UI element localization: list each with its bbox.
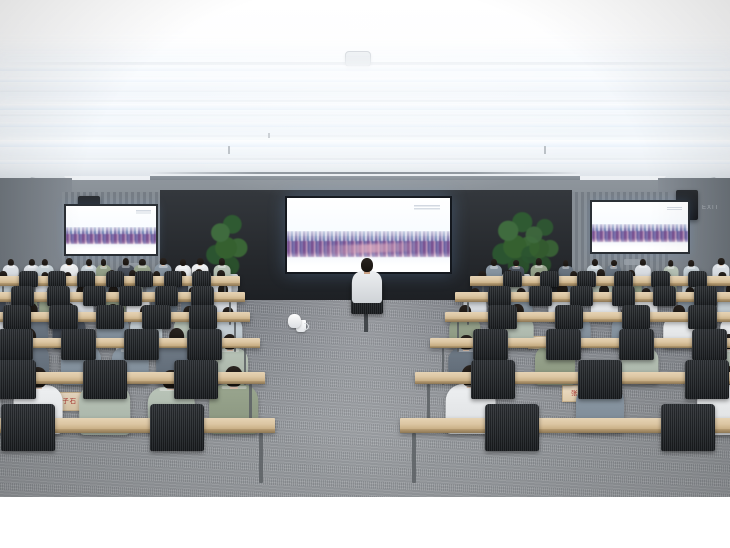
chair bbox=[622, 305, 651, 330]
chair bbox=[96, 305, 125, 330]
left-side-monitor[interactable] bbox=[64, 204, 158, 256]
person-collar bbox=[218, 265, 226, 268]
slide-logo-mark bbox=[667, 207, 682, 212]
tea-cup-with-lid bbox=[288, 314, 301, 328]
chair bbox=[577, 271, 595, 287]
ceiling-light-strip bbox=[0, 66, 730, 71]
wall-sign: EXIT bbox=[702, 205, 719, 211]
slide-content bbox=[592, 202, 688, 252]
person-collar bbox=[65, 265, 74, 268]
sprinkler-icon bbox=[268, 133, 270, 138]
chair bbox=[619, 329, 655, 360]
ceiling-light-strip bbox=[0, 160, 730, 164]
chair bbox=[653, 286, 676, 306]
chair bbox=[612, 286, 635, 306]
slide-haze bbox=[66, 242, 156, 254]
sprinkler-icon bbox=[544, 146, 546, 154]
chair bbox=[48, 271, 66, 287]
person-collar bbox=[85, 266, 93, 269]
chair bbox=[47, 286, 70, 306]
chair bbox=[49, 305, 78, 330]
slide-content bbox=[66, 206, 156, 254]
chair bbox=[77, 271, 95, 287]
person-collar bbox=[7, 265, 15, 268]
chair bbox=[83, 286, 106, 306]
chair bbox=[485, 404, 539, 451]
slide-logo-mark bbox=[414, 205, 440, 212]
table-edge bbox=[0, 381, 265, 384]
person-collar bbox=[535, 265, 543, 268]
chair bbox=[546, 329, 582, 360]
chair bbox=[692, 329, 728, 360]
chair bbox=[142, 305, 171, 330]
chair bbox=[135, 271, 153, 287]
chair bbox=[471, 360, 515, 398]
table-leg bbox=[259, 433, 263, 483]
chair bbox=[688, 271, 706, 287]
sprinkler-icon bbox=[228, 146, 230, 154]
person-collar bbox=[639, 265, 647, 268]
ceiling-light-strip bbox=[0, 122, 730, 127]
chair bbox=[688, 305, 717, 330]
chair bbox=[106, 271, 124, 287]
ceiling-light-strip bbox=[0, 104, 730, 110]
ceiling-light-strip bbox=[0, 78, 730, 82]
person-collar bbox=[513, 266, 521, 269]
chair bbox=[488, 286, 511, 306]
chair bbox=[488, 305, 517, 330]
chair bbox=[61, 329, 97, 360]
person-collar bbox=[196, 265, 205, 268]
chair bbox=[189, 305, 218, 330]
chair bbox=[164, 271, 182, 287]
smoke-detector-icon bbox=[345, 51, 371, 67]
person-collar bbox=[100, 266, 108, 269]
person-collar bbox=[179, 266, 187, 269]
person-collar bbox=[490, 266, 498, 269]
chair bbox=[651, 271, 669, 287]
chair bbox=[187, 329, 223, 360]
person-collar bbox=[667, 266, 674, 269]
chair bbox=[3, 305, 32, 330]
person-collar bbox=[562, 266, 570, 269]
chair bbox=[529, 286, 552, 306]
chair bbox=[614, 271, 632, 287]
chair bbox=[570, 286, 593, 306]
table-leg bbox=[412, 433, 416, 483]
chair bbox=[503, 271, 521, 287]
chair bbox=[124, 329, 160, 360]
slide-logo-mark bbox=[136, 210, 150, 214]
person-collar bbox=[591, 266, 599, 269]
chair bbox=[191, 286, 214, 306]
chair bbox=[685, 360, 729, 398]
chair bbox=[83, 360, 127, 398]
conference-table bbox=[415, 372, 730, 384]
person-collar bbox=[222, 386, 247, 389]
chair bbox=[694, 286, 717, 306]
chair bbox=[19, 271, 37, 287]
ceiling-light-strip bbox=[0, 90, 730, 92]
chair bbox=[119, 286, 142, 306]
person-collar bbox=[41, 265, 49, 268]
person-collar bbox=[159, 265, 168, 268]
person-head bbox=[361, 258, 373, 272]
chair bbox=[540, 271, 558, 287]
chair bbox=[192, 271, 210, 287]
chair-base bbox=[364, 312, 368, 332]
person-collar bbox=[27, 265, 35, 268]
chair bbox=[155, 286, 178, 306]
conference-room-photo: EXIT bbox=[0, 0, 730, 497]
person-collar bbox=[122, 265, 130, 268]
chair bbox=[0, 329, 33, 360]
person-torso bbox=[352, 271, 382, 303]
table-edge bbox=[415, 381, 730, 384]
chair bbox=[473, 329, 509, 360]
chair bbox=[661, 404, 715, 451]
person-collar bbox=[138, 265, 146, 268]
chair bbox=[174, 360, 218, 398]
slide-haze bbox=[592, 239, 688, 252]
person-collar bbox=[688, 266, 696, 269]
person-collar bbox=[717, 265, 726, 268]
ceiling-light-strip bbox=[0, 140, 730, 147]
chair bbox=[150, 404, 204, 451]
ceiling-light-strip bbox=[0, 114, 730, 116]
chair bbox=[11, 286, 34, 306]
chair bbox=[0, 360, 36, 398]
ceiling-seam bbox=[0, 135, 730, 137]
right-side-monitor[interactable] bbox=[590, 200, 690, 254]
chair bbox=[1, 404, 55, 451]
chair bbox=[555, 305, 584, 330]
front-row-attendee bbox=[352, 258, 382, 306]
chair bbox=[578, 360, 622, 398]
conference-table bbox=[0, 372, 265, 384]
ceiling-seam bbox=[0, 100, 730, 102]
